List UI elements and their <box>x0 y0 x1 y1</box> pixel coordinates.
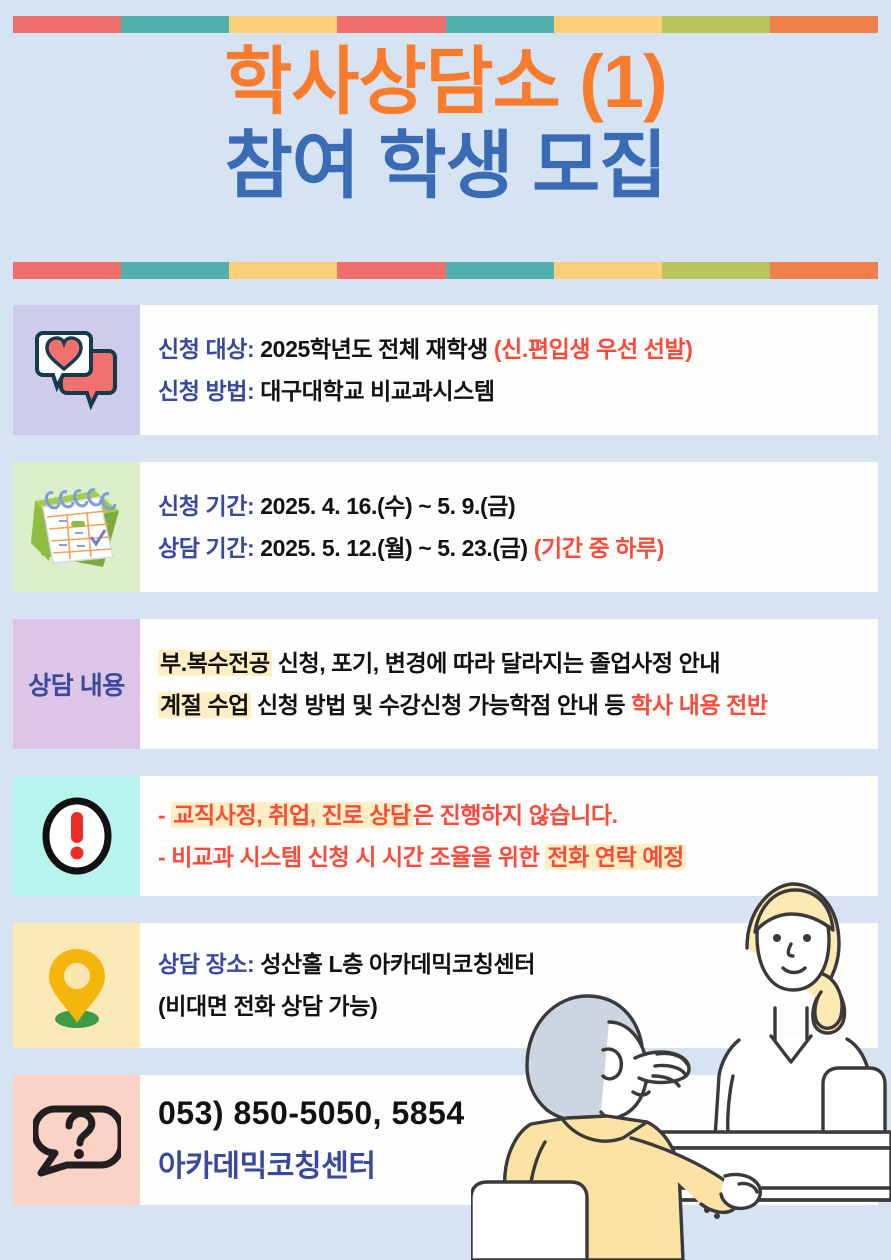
text-span: 053) 850-5050, 5854 <box>158 1095 465 1131</box>
info-line: 아카데믹코칭센터 <box>158 1146 868 1189</box>
question-bubble-icon <box>13 1075 140 1205</box>
text-span: 신청 기간: <box>158 493 260 519</box>
text-span: 전화 연락 예정 <box>545 844 686 870</box>
text-span: 부.복수전공 <box>158 650 272 676</box>
text-span: 학사 내용 전반 <box>631 692 768 718</box>
calendar-icon <box>13 462 140 592</box>
info-row-body: 053) 850-5050, 5854아카데믹코칭센터 <box>140 1075 878 1205</box>
info-line: 신청 대상: 2025학년도 전체 재학생 (신.편입생 우선 선발) <box>158 333 868 366</box>
info-line: 신청 기간: 2025. 4. 16.(수) ~ 5. 9.(금) <box>158 490 868 523</box>
stripe-segment-2 <box>121 262 229 279</box>
title-line-2: 참여 학생 모집 <box>0 126 891 206</box>
stripe-segment-1 <box>13 16 121 33</box>
text-span: 은 진행하지 않습니다. <box>413 802 618 828</box>
text-span: 아카데믹코칭센터 <box>158 1150 376 1183</box>
text-span: 2025학년도 전체 재학생 <box>260 336 494 362</box>
info-row-body: 상담 장소: 성산홀 L층 아카데믹코칭센터(비대면 전화 상담 가능) <box>140 923 878 1048</box>
info-line: 053) 850-5050, 5854 <box>158 1091 868 1136</box>
exclamation-icon-svg <box>39 796 115 876</box>
info-line: (비대면 전화 상담 가능) <box>158 990 868 1023</box>
stripe-segment-8 <box>770 262 878 279</box>
stripe-segment-4 <box>337 262 445 279</box>
location-pin-icon <box>13 923 140 1048</box>
stripe-segment-3 <box>229 262 337 279</box>
consultation-label: 상담 내용 <box>13 619 140 749</box>
info-row-body: 부.복수전공 신청, 포기, 변경에 따라 달라지는 졸업사정 안내계절 수업 … <box>140 619 878 749</box>
info-line: - 비교과 시스템 신청 시 시간 조율을 위한 전화 연락 예정 <box>158 841 868 874</box>
exclamation-icon <box>13 776 140 896</box>
info-line: - 교직사정, 취업, 진로 상담은 진행하지 않습니다. <box>158 799 868 832</box>
stripe-segment-7 <box>662 16 770 33</box>
text-span: 상담 장소: <box>158 951 260 977</box>
text-span: (비대면 전화 상담 가능) <box>158 993 377 1019</box>
text-span: 성산홀 L층 아카데믹코칭센터 <box>260 951 535 977</box>
top-stripe-bar <box>13 16 878 33</box>
text-span: 교직사정, 취업, 진로 상담 <box>171 802 413 828</box>
info-row-body: 신청 대상: 2025학년도 전체 재학생 (신.편입생 우선 선발)신청 방법… <box>140 305 878 435</box>
text-span: 신청, 포기, 변경에 따라 달라지는 졸업사정 안내 <box>272 650 720 676</box>
info-line: 계절 수업 신청 방법 및 수강신청 가능학점 안내 등 학사 내용 전반 <box>158 689 868 722</box>
info-row: 053) 850-5050, 5854아카데믹코칭센터 <box>13 1075 878 1205</box>
text-span: 비교과 시스템 신청 시 시간 조율을 위한 <box>171 844 545 870</box>
stripe-segment-4 <box>337 16 445 33</box>
info-line: 신청 방법: 대구대학교 비교과시스템 <box>158 375 868 408</box>
text-span: 상담 기간: <box>158 535 260 561</box>
info-row-body: - 교직사정, 취업, 진로 상담은 진행하지 않습니다.- 비교과 시스템 신… <box>140 776 878 896</box>
text-span: 계절 수업 <box>158 692 251 718</box>
text-span: 2025. 5. 12.(월) ~ 5. 23.(금) <box>260 535 533 561</box>
stripe-segment-5 <box>446 16 554 33</box>
text-span: - <box>158 844 171 870</box>
text-span: 대구대학교 비교과시스템 <box>260 378 494 404</box>
stripe-segment-6 <box>554 16 662 33</box>
info-row-body: 신청 기간: 2025. 4. 16.(수) ~ 5. 9.(금)상담 기간: … <box>140 462 878 592</box>
info-line: 상담 기간: 2025. 5. 12.(월) ~ 5. 23.(금) (기간 중… <box>158 532 868 565</box>
text-span: 신청 방법: <box>158 378 260 404</box>
text-span: - <box>158 802 171 828</box>
text-span: 신청 대상: <box>158 336 260 362</box>
info-rows: 신청 대상: 2025학년도 전체 재학생 (신.편입생 우선 선발)신청 방법… <box>13 305 878 1232</box>
info-line: 부.복수전공 신청, 포기, 변경에 따라 달라지는 졸업사정 안내 <box>158 647 868 680</box>
info-line: 상담 장소: 성산홀 L층 아카데믹코칭센터 <box>158 948 868 981</box>
text-span: (신.편입생 우선 선발) <box>494 336 693 362</box>
chat-heart-icon-svg <box>33 329 121 411</box>
text-span: 신청 방법 및 수강신청 가능학점 안내 등 <box>251 692 631 718</box>
stripe-segment-1 <box>13 262 121 279</box>
stripe-segment-3 <box>229 16 337 33</box>
question-bubble-icon-svg <box>33 1099 121 1181</box>
poster-title: 학사상담소 (1) 참여 학생 모집 <box>0 42 891 206</box>
info-row: 상담 내용부.복수전공 신청, 포기, 변경에 따라 달라지는 졸업사정 안내계… <box>13 619 878 749</box>
text-span: (기간 중 하루) <box>534 535 664 561</box>
title-line-1: 학사상담소 (1) <box>0 42 891 122</box>
info-row: 신청 대상: 2025학년도 전체 재학생 (신.편입생 우선 선발)신청 방법… <box>13 305 878 435</box>
info-row: 신청 기간: 2025. 4. 16.(수) ~ 5. 9.(금)상담 기간: … <box>13 462 878 592</box>
stripe-segment-8 <box>770 16 878 33</box>
stripe-segment-2 <box>121 16 229 33</box>
chat-heart-icon <box>13 305 140 435</box>
calendar-icon-svg <box>25 481 129 573</box>
stripe-segment-7 <box>662 262 770 279</box>
info-row: 상담 장소: 성산홀 L층 아카데믹코칭센터(비대면 전화 상담 가능) <box>13 923 878 1048</box>
bottom-stripe-bar <box>13 262 878 279</box>
poster-root: 학사상담소 (1) 참여 학생 모집 신청 대상: 2025학년도 전체 재학생… <box>0 0 891 1260</box>
text-span: 2025. 4. 16.(수) ~ 5. 9.(금) <box>260 493 515 519</box>
stripe-segment-6 <box>554 262 662 279</box>
info-row: - 교직사정, 취업, 진로 상담은 진행하지 않습니다.- 비교과 시스템 신… <box>13 776 878 896</box>
stripe-segment-5 <box>446 262 554 279</box>
location-pin-icon-svg <box>39 943 115 1029</box>
